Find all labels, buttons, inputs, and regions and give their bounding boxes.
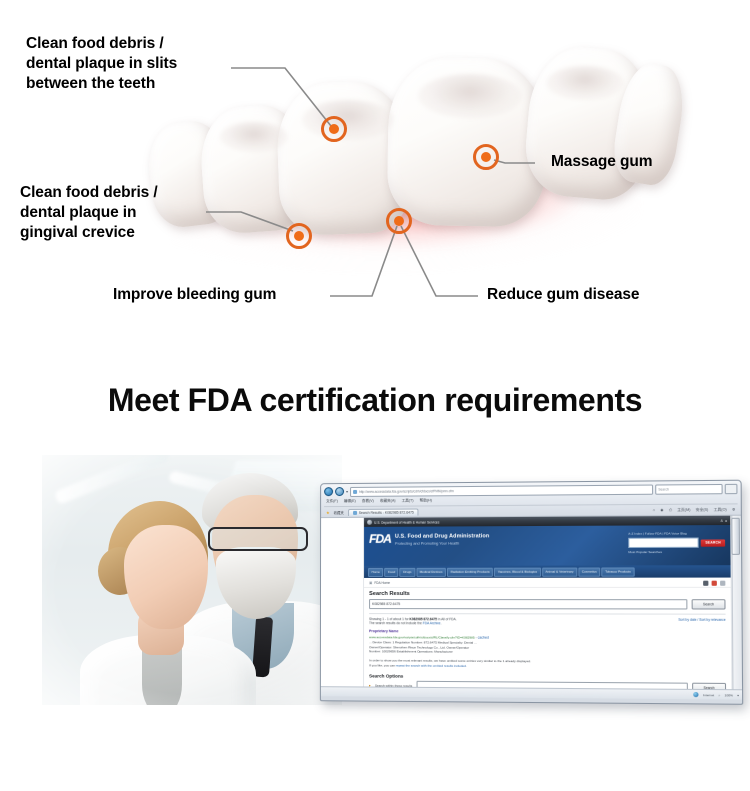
browser-chrome: ▾ http://www.accessdata.fda.gov/scripts/… [321,481,741,517]
search-results-summary: Showing 1 - 1 of about 1 for K082985 872… [369,613,726,627]
most-popular-searches-link[interactable]: Most Popular Searches [628,550,725,554]
browser-viewport: U.S. Department of Health & Human Servic… [321,515,742,690]
archive-note-suffix: . [441,622,442,626]
lab-scientists-photo [42,455,342,705]
page-tools [703,580,725,585]
callout-label-clean-gingival-crevice: Clean food debris / dental plaque in gin… [20,183,220,242]
menu-item-view[interactable]: 查看(V) [362,499,374,504]
fda-site-search-button[interactable]: SEARCH [701,539,725,546]
callout-label-massage-gum: Massage gum [551,152,652,172]
fda-primary-nav: Home Food Drugs Medical Devices Radiatio… [364,565,731,578]
result-url: www.accessdata.fda.gov/scripts/cdrh/cfdo… [369,635,475,639]
sort-by-date-link[interactable]: Sort by date [678,617,696,621]
hhs-banner-text: U.S. Department of Health & Human Servic… [374,520,439,524]
toolbar-item-home[interactable]: 主页(M) [677,507,690,512]
status-right-group: Internet ⌕ 100% ▾ [693,692,738,698]
fda-masthead: FDA U.S. Food and Drug Administration Pr… [364,525,730,566]
nav-tab-animal-veterinary[interactable]: Animal & Veterinary [542,567,577,576]
go-button[interactable] [725,483,738,493]
section-headline: Meet FDA certification requirements [0,382,750,419]
summary-suffix: in All of FDA. [437,617,457,621]
fda-web-page: U.S. Department of Health & Human Servic… [363,516,732,689]
vertical-scrollbar[interactable] [731,516,742,690]
omitted-note-suffix: . [466,664,467,668]
toolbar-item-tools[interactable]: 工具(O) [714,507,727,512]
hotspot-marker-crevice[interactable] [286,223,312,249]
status-zone: Internet [703,693,714,697]
nav-tab-radiation[interactable]: Radiation-Emitting Products [447,567,493,576]
home-icon: ▣ [369,581,372,585]
nav-tab-food[interactable]: Food [384,567,398,576]
nav-tab-vaccines[interactable]: Vaccines, Blood & Biologics [494,567,540,576]
figure-female-scientist [94,501,254,715]
search-result-item: Proprietary Name www.accessdata.fda.gov/… [364,626,731,656]
fda-certification-section: ▾ http://www.accessdata.fda.gov/scripts/… [0,447,750,747]
fda-header-links[interactable]: A-Z Index | Follow FDA | FDA Voice Blog [628,531,725,536]
breadcrumb: ▣ FDA Home [364,578,731,588]
callout-label-improve-bleeding-gum: Improve bleeding gum [113,285,276,305]
fda-site-tagline: Protecting and Promoting Your Health [395,541,489,545]
favorites-label[interactable]: 收藏夹 [334,509,344,514]
browser-tab[interactable]: Search Results - K082985 872.6475 [348,508,419,515]
fda-site-title: U.S. Food and Drug Administration [395,533,489,539]
nav-tab-tobacco[interactable]: Tobacco Products [601,567,634,576]
nav-tab-medical-devices[interactable]: Medical Devices [416,567,446,576]
browser-toolbar-icons: ⌂ ◉ ⎙ 主页(M) 安全(S) 工具(O) ⚙ [653,507,736,513]
menu-item-favorites[interactable]: 收藏夹(A) [380,499,396,504]
search-within-button[interactable]: Search [692,683,726,689]
menu-item-help[interactable]: 帮助(H) [420,498,432,503]
font-size-icon[interactable]: A [721,518,723,522]
home-icon[interactable]: ⌂ [653,508,655,513]
sort-controls: Sort by date / Sort by relevance [678,617,725,622]
sort-by-relevance-link[interactable]: Sort by relevance [699,617,725,621]
share-icon[interactable] [712,580,717,585]
print-icon[interactable] [703,580,708,585]
search-results-heading: Search Results [364,587,731,598]
star-icon[interactable]: ★ [326,510,330,515]
menu-item-edit[interactable]: 编辑(E) [344,499,356,504]
search-summary-text: Showing 1 - 1 of about 1 for K082985 872… [369,617,457,627]
face [124,525,208,629]
email-icon[interactable] [720,580,725,585]
scrollbar-thumb[interactable] [731,518,740,555]
archive-note-prefix: The search results do not include the [369,621,423,625]
result-cached-link[interactable]: cached [478,635,489,639]
fda-masthead-right: A-Z Index | Follow FDA | FDA Voice Blog … [628,529,725,554]
search-button[interactable]: Search [692,599,726,610]
fda-site-search: SEARCH [628,537,725,548]
callout-label-clean-slits: Clean food debris / dental plaque in sli… [26,34,236,93]
search-input[interactable]: K082985 872.6475 [369,599,687,610]
hhs-banner-tools: A ● [721,518,727,522]
callout-label-reduce-gum-disease: Reduce gum disease [487,285,639,305]
search-results-form: K082985 872.6475 Search [364,599,731,613]
browser-tab-title: Search Results - K082985 872.6475 [359,510,414,514]
ceiling-light [54,447,171,505]
zoom-icon[interactable]: ⌕ [718,693,720,697]
tooth-cusp-groove [546,66,624,100]
status-zoom-level[interactable]: 100% [725,693,733,697]
internet-zone-icon [693,692,698,697]
accessibility-icon[interactable]: ● [725,518,727,522]
nav-tab-home[interactable]: Home [368,567,383,576]
tooth-diagram-section: Clean food debris / dental plaque in sli… [0,0,750,340]
search-input-value: K082985 872.6475 [372,602,400,606]
fda-titles: U.S. Food and Drug Administration Protec… [395,530,489,545]
repeat-search-link[interactable]: repeat the search with the omitted resul… [396,664,466,668]
back-button[interactable] [324,487,333,496]
summary-query: K082985 872.6475 [409,617,437,621]
hotspot-marker-slits[interactable] [321,116,347,142]
browser-window: ▾ http://www.accessdata.fda.gov/scripts/… [320,480,743,705]
omitted-note-prefix: If you like, you can [369,663,396,667]
address-bar-value: http://www.accessdata.fda.gov/scripts/cd… [359,489,454,494]
gear-icon[interactable]: ⚙ [732,507,735,512]
tab-favicon-icon [353,510,357,514]
toolbar-item-safety[interactable]: 安全(S) [696,507,709,512]
tooth-cusp-groove [418,74,522,118]
nav-tab-cosmetics[interactable]: Cosmetics [578,567,600,576]
page-icon [353,489,357,493]
chevron-down-icon[interactable]: ▾ [737,693,739,697]
fda-archive-link[interactable]: FDA Archive [423,622,441,626]
hotspot-marker-massage[interactable] [473,144,499,170]
browser-search-value: Search [658,487,669,491]
browser-search-box[interactable]: Search [655,483,722,494]
feed-icon[interactable]: ◉ [660,507,663,512]
summary-prefix: Showing 1 - 1 of about 1 for [369,617,409,621]
menu-item-file[interactable]: 文件(F) [326,499,338,504]
hotspot-marker-gum-base[interactable] [386,208,412,234]
menu-item-tools[interactable]: 工具(T) [402,499,414,504]
fda-logo[interactable]: FDA [369,533,391,545]
tooth-cusp-groove [302,100,394,140]
print-icon[interactable]: ⎙ [669,507,672,512]
nav-tab-drugs[interactable]: Drugs [400,567,415,576]
hhs-seal-icon [367,520,372,525]
fda-site-search-input[interactable] [628,538,699,549]
forward-button[interactable] [335,487,344,496]
breadcrumb-home[interactable]: FDA Home [374,581,390,585]
omitted-results-note: In order to show you the most relevant r… [364,654,731,670]
tooth-cusp-groove [220,122,288,152]
chevron-down-icon[interactable]: ▾ [346,489,348,494]
